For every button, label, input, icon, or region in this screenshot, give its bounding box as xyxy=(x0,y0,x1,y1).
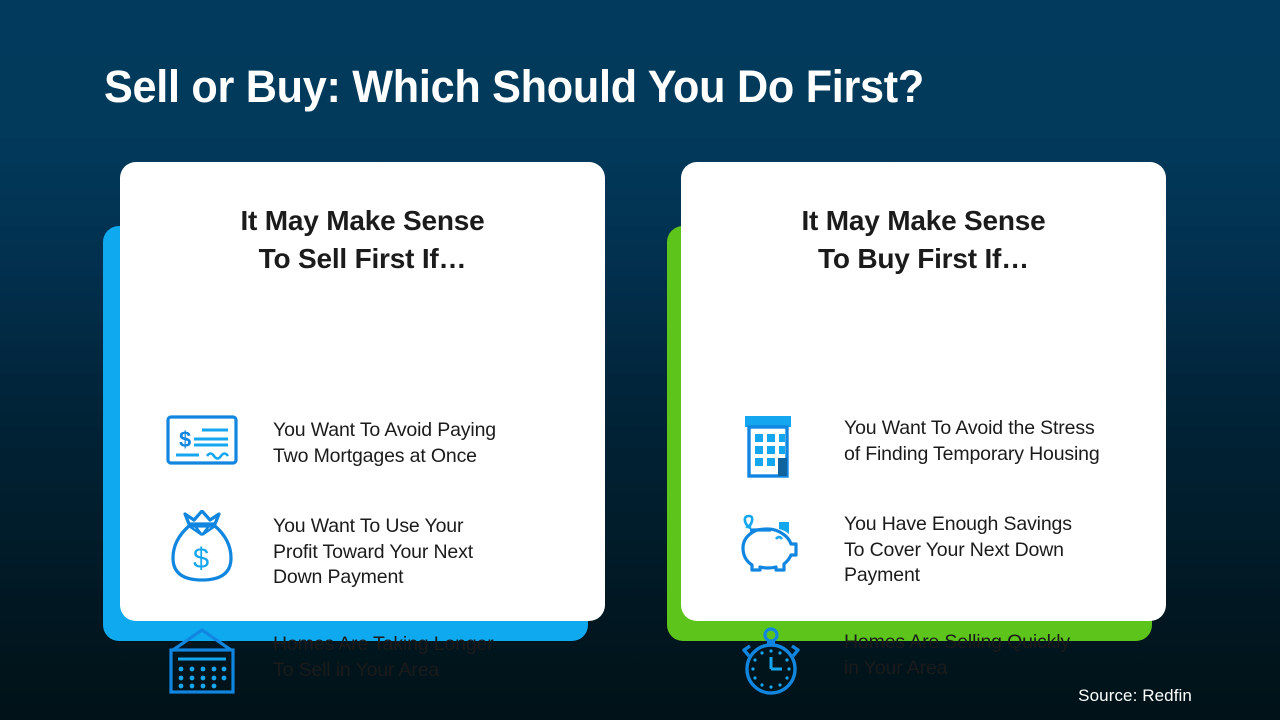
list-item-text: Homes Are Selling Quickly in Your Area xyxy=(844,626,1070,681)
list-item-text-line: Two Mortgages at Once xyxy=(273,444,496,470)
list-item-text-line: You Want To Avoid Paying xyxy=(273,418,496,444)
list-item-text-line: To Cover Your Next Down xyxy=(844,538,1072,564)
list-item-text-line: Homes Are Selling Quickly xyxy=(844,630,1070,656)
list-item-text-line: Profit Toward Your Next xyxy=(273,540,473,566)
list-item-text-line: Down Payment xyxy=(273,565,473,591)
list-item: Homes Are Taking Longer To Sell in Your … xyxy=(165,628,585,702)
list-item: You Have Enough Savings To Cover Your Ne… xyxy=(736,508,1156,589)
list-item-text: You Want To Use Your Profit Toward Your … xyxy=(273,510,473,591)
list-item-text-line: You Want To Avoid the Stress xyxy=(844,416,1100,442)
source-attribution: Source: Redfin xyxy=(1078,686,1192,706)
card-heading-buy-line2: To Buy First If… xyxy=(681,240,1166,278)
list-item-text-line: Payment xyxy=(844,563,1072,589)
list-item: $ You Want To Use Your Profit Toward You… xyxy=(165,510,585,591)
list-item: You Want To Avoid the Stress of Finding … xyxy=(736,412,1156,486)
money-bag-icon: $ xyxy=(165,510,239,584)
piggy-bank-icon xyxy=(736,508,806,582)
list-item-text-line: To Sell in Your Area xyxy=(273,658,494,684)
list-item-text: You Have Enough Savings To Cover Your Ne… xyxy=(844,508,1072,589)
list-item-text-line: Homes Are Taking Longer xyxy=(273,632,494,658)
card-body-sell: It May Make Sense To Sell First If… $ xyxy=(120,162,605,621)
svg-text:$: $ xyxy=(193,543,209,575)
page-title: Sell or Buy: Which Should You Do First? xyxy=(104,60,924,114)
svg-text:$: $ xyxy=(179,427,191,452)
card-heading-buy-line1: It May Make Sense xyxy=(801,205,1045,236)
list-item-text-line: in Your Area xyxy=(844,656,1070,682)
list-item-text-line: You Have Enough Savings xyxy=(844,512,1072,538)
card-heading-sell: It May Make Sense To Sell First If… xyxy=(120,162,605,278)
card-heading-buy: It May Make Sense To Buy First If… xyxy=(681,162,1166,278)
card-heading-sell-line1: It May Make Sense xyxy=(240,205,484,236)
check-dollar-icon: $ xyxy=(165,414,239,488)
list-item-text-line: You Want To Use Your xyxy=(273,514,473,540)
stopwatch-icon xyxy=(736,626,806,700)
card-body-buy: It May Make Sense To Buy First If… xyxy=(681,162,1166,621)
house-calendar-icon xyxy=(165,628,239,702)
list-item-text: You Want To Avoid the Stress of Finding … xyxy=(844,412,1100,467)
list-item-text: You Want To Avoid Paying Two Mortgages a… xyxy=(273,414,496,469)
list-item: $ You Want To Avoid Paying Two Mortgages… xyxy=(165,414,585,488)
card-heading-sell-line2: To Sell First If… xyxy=(120,240,605,278)
slide-canvas: Sell or Buy: Which Should You Do First? … xyxy=(0,0,1280,720)
apartment-building-icon xyxy=(736,412,806,486)
list-item-text-line: of Finding Temporary Housing xyxy=(844,442,1100,468)
list-item-text: Homes Are Taking Longer To Sell in Your … xyxy=(273,628,494,683)
